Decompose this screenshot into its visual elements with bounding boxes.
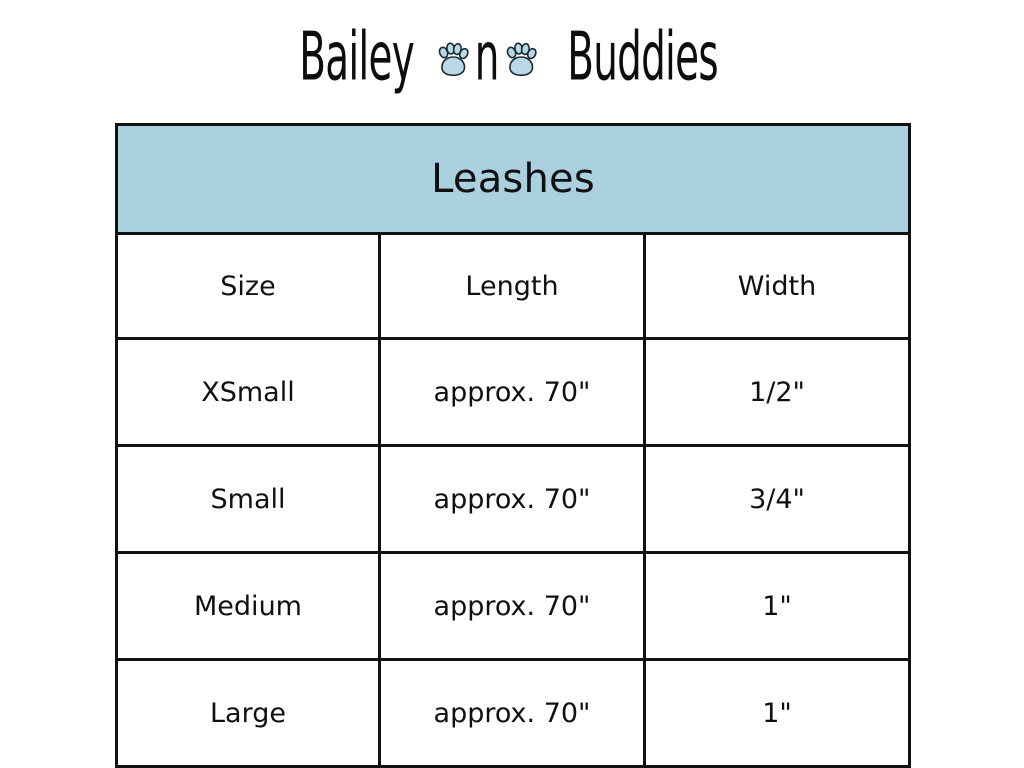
table-row: XSmall approx. 70" 1/2": [117, 339, 910, 446]
cell-size: XSmall: [117, 339, 380, 446]
cell-width: 1": [645, 660, 910, 767]
brand-word-buddies: Buddies: [567, 23, 718, 90]
cell-size: Medium: [117, 553, 380, 660]
cell-width: 3/4": [645, 446, 910, 553]
cell-length: approx. 70": [380, 553, 645, 660]
cell-width: 1": [645, 553, 910, 660]
leashes-size-table: Leashes Size Length Width XSmall approx.…: [115, 123, 911, 768]
paw-print-icon: [436, 42, 470, 78]
brand-word-bailey: Bailey: [299, 23, 414, 90]
table-header-row: Size Length Width: [117, 234, 910, 339]
table-row: Small approx. 70" 3/4": [117, 446, 910, 553]
size-chart-page: Bailey n: [0, 0, 1024, 768]
table-title: Leashes: [117, 125, 910, 234]
cell-size: Large: [117, 660, 380, 767]
brand-connector-n: n: [475, 23, 500, 90]
cell-width: 1/2": [645, 339, 910, 446]
paw-print-icon: [504, 42, 538, 78]
column-header-length: Length: [380, 234, 645, 339]
column-header-width: Width: [645, 234, 910, 339]
cell-length: approx. 70": [380, 660, 645, 767]
table-row: Large approx. 70" 1": [117, 660, 910, 767]
table-title-row: Leashes: [117, 125, 910, 234]
column-header-size: Size: [117, 234, 380, 339]
cell-length: approx. 70": [380, 446, 645, 553]
brand-logo: Bailey n: [0, 18, 1024, 96]
table-row: Medium approx. 70" 1": [117, 553, 910, 660]
cell-length: approx. 70": [380, 339, 645, 446]
cell-size: Small: [117, 446, 380, 553]
